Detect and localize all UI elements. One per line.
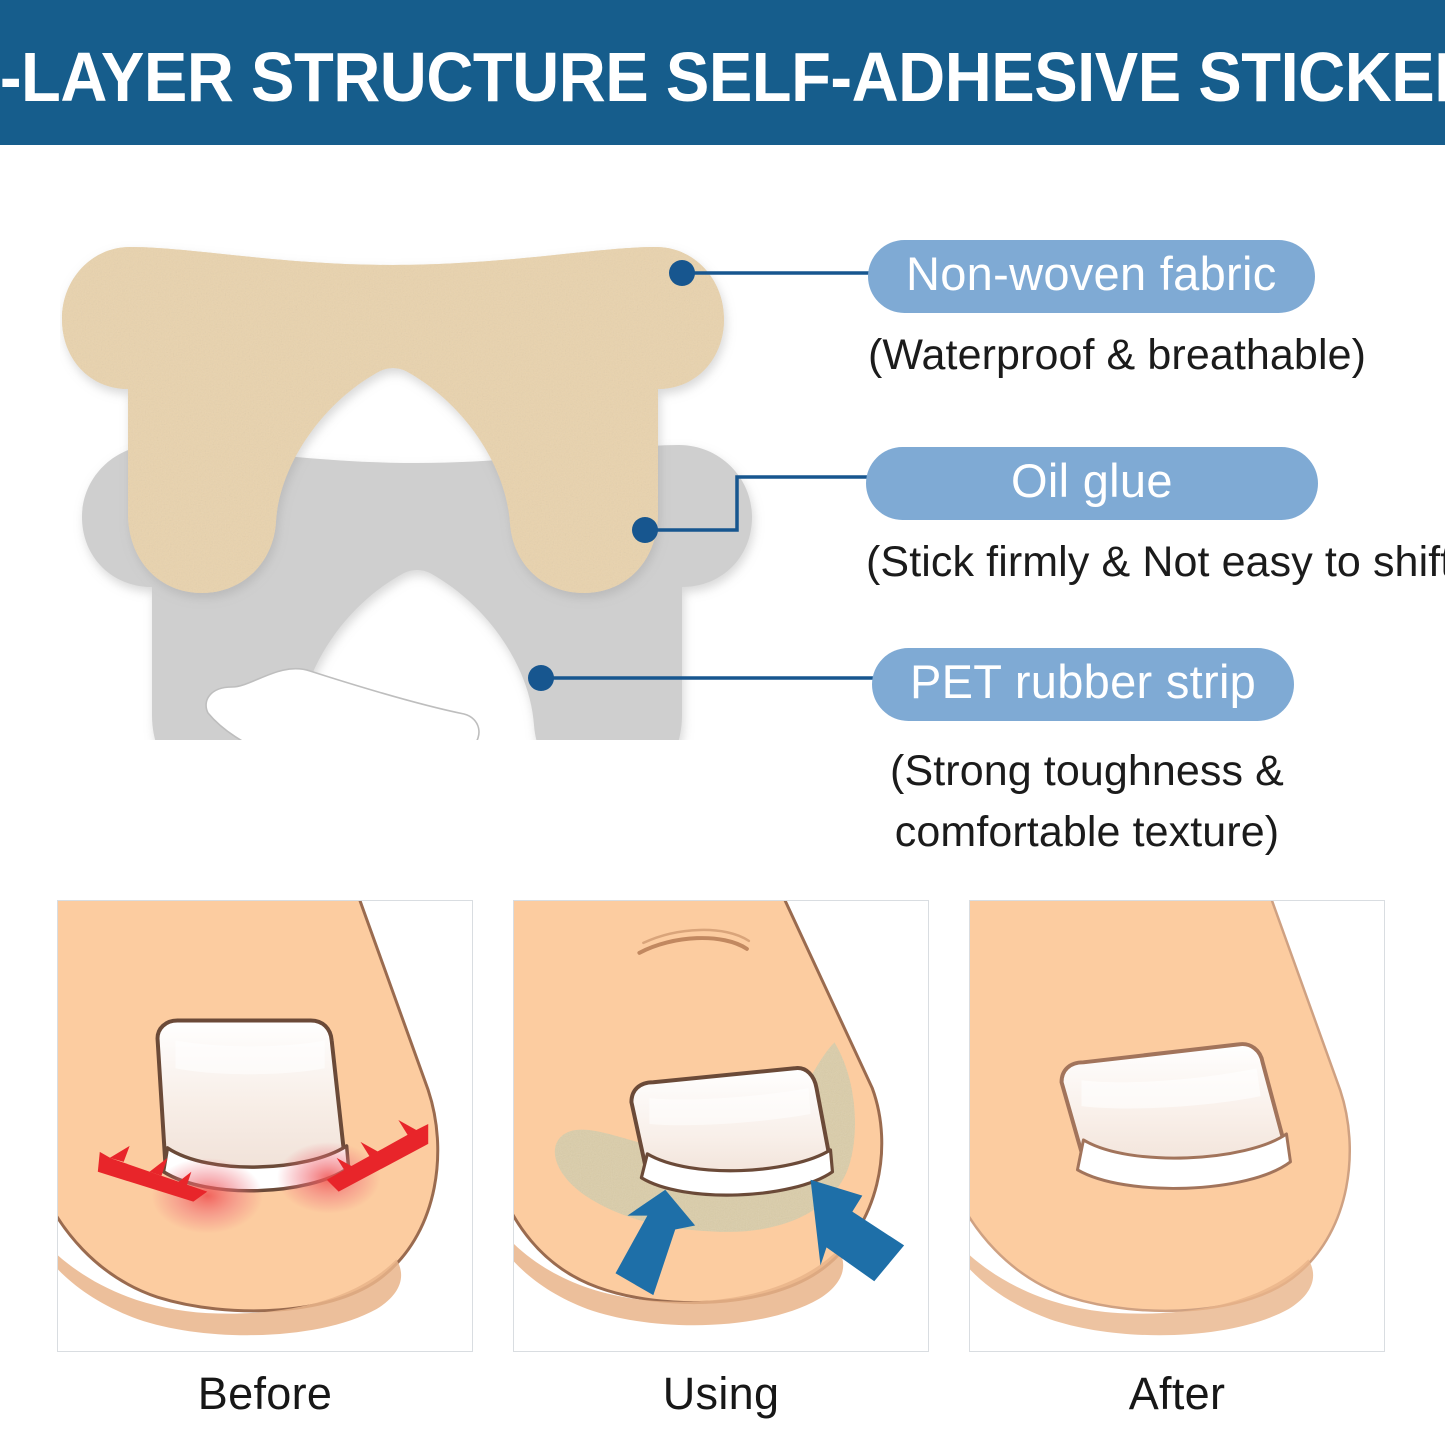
caption-after: After xyxy=(969,1368,1385,1420)
callout-non-woven-fabric: Non-woven fabric (Waterproof & breathabl… xyxy=(868,240,1366,386)
panel-before xyxy=(57,900,473,1352)
panel-using xyxy=(513,900,929,1352)
caption-using: Using xyxy=(513,1368,929,1420)
caption-before: Before xyxy=(57,1368,473,1420)
callout-label-pet-rubber-strip: PET rubber strip xyxy=(872,648,1294,721)
toe-illustration-using xyxy=(514,901,904,1325)
toe-illustration-after xyxy=(970,901,1350,1335)
callout-label-oil-glue: Oil glue xyxy=(866,447,1318,520)
callout-description-oil-glue: (Stick firmly & Not easy to shift) xyxy=(866,532,1445,593)
callout-description-pet-rubber-strip: (Strong toughness & comfortable texture) xyxy=(872,741,1302,863)
toe-illustration-before xyxy=(58,901,438,1335)
callout-description-non-woven-fabric: (Waterproof & breathable) xyxy=(868,325,1366,386)
page-title: 3-LAYER STRUCTURE SELF-ADHESIVE STICKER xyxy=(0,34,1445,112)
callout-oil-glue: Oil glue (Stick firmly & Not easy to shi… xyxy=(866,447,1445,593)
callout-label-non-woven-fabric: Non-woven fabric xyxy=(868,240,1315,313)
inflammation-left xyxy=(152,1158,263,1234)
header-banner: 3-LAYER STRUCTURE SELF-ADHESIVE STICKER xyxy=(0,0,1445,145)
comparison-panels: Before Using After xyxy=(0,900,1445,1445)
infographic-page: 3-LAYER STRUCTURE SELF-ADHESIVE STICKER xyxy=(0,0,1445,1445)
callout-pet-rubber-strip: PET rubber strip (Strong toughness & com… xyxy=(872,648,1302,863)
product-exploded-illustration xyxy=(60,195,780,740)
inflammation-right xyxy=(277,1142,381,1214)
panel-after xyxy=(969,900,1385,1352)
